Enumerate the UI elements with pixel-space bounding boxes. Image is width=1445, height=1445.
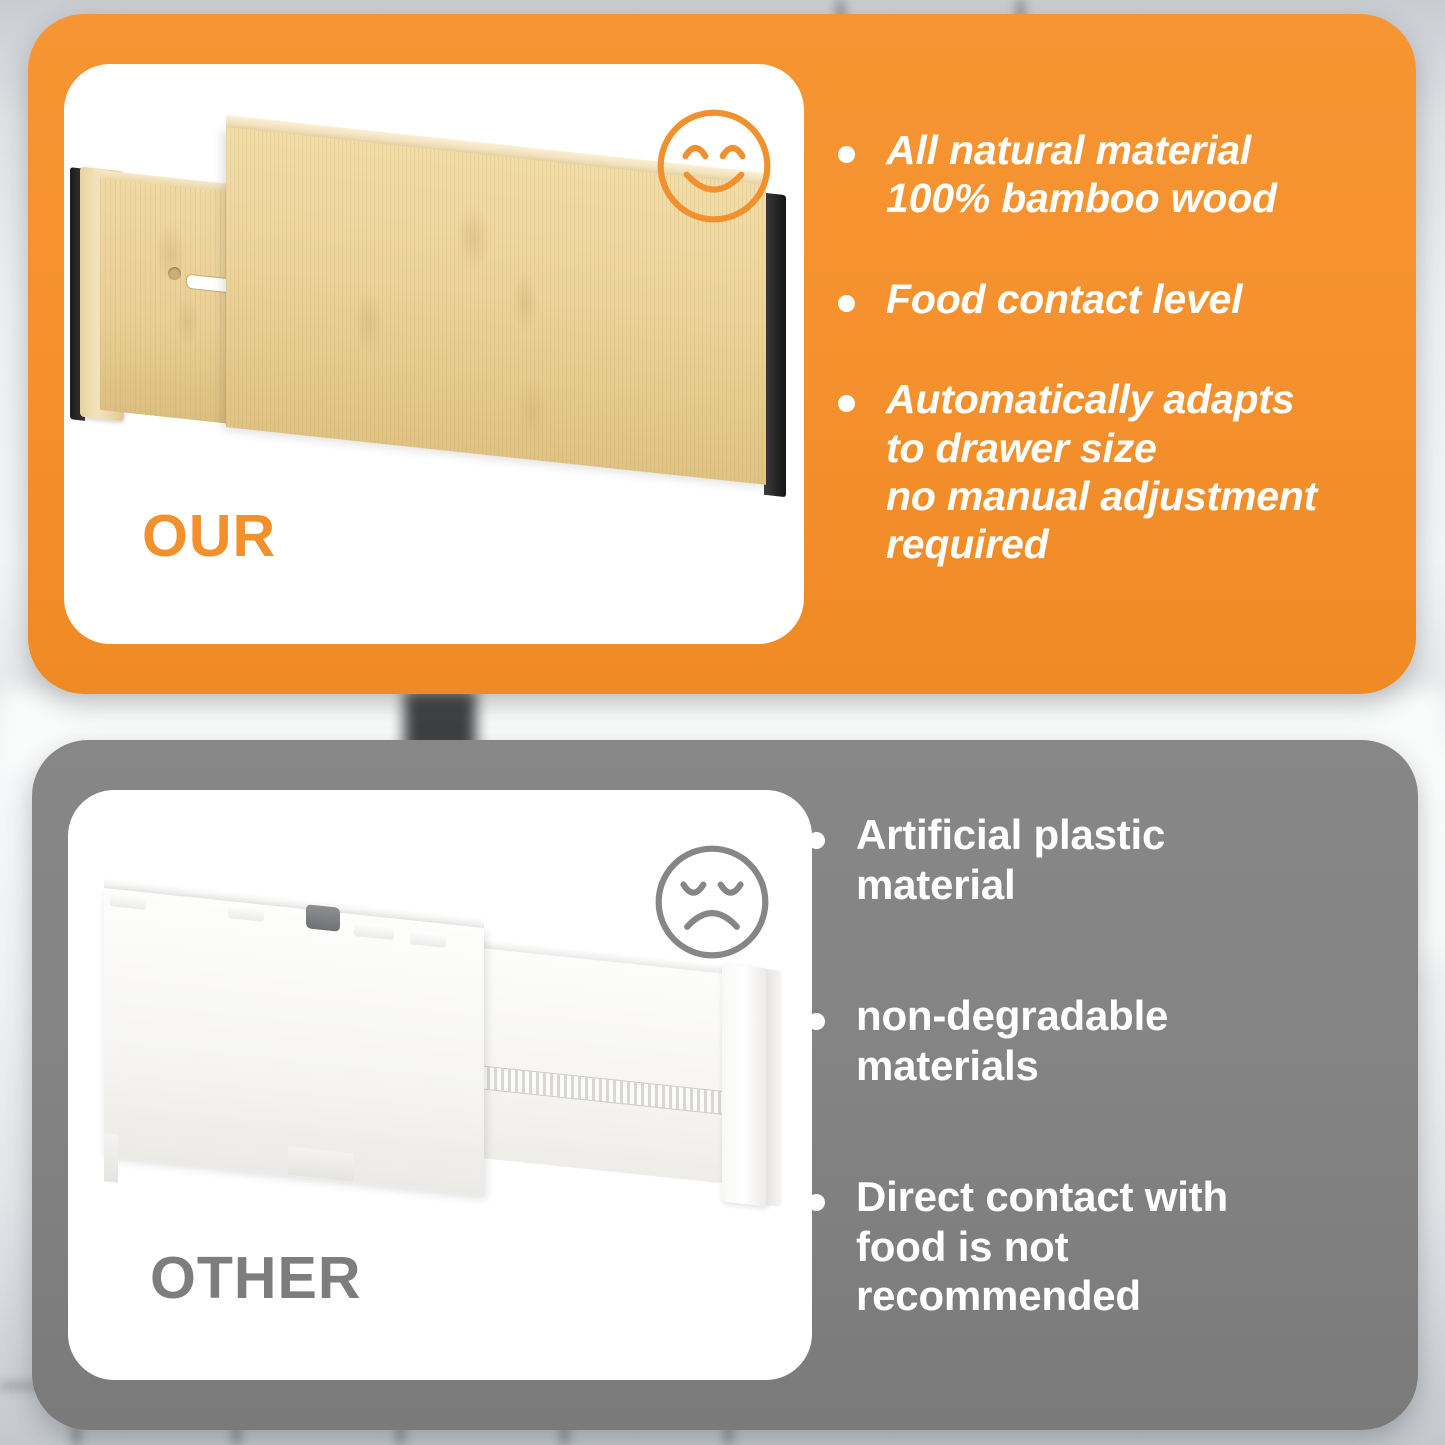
list-item: non-degradable materials	[808, 991, 1408, 1090]
ours-photo-card: OUR	[64, 64, 804, 644]
other-bullet-text: Artificial plastic material	[856, 810, 1165, 909]
bamboo-knot	[456, 202, 490, 274]
bamboo-knot	[174, 294, 200, 349]
other-bullet-text: non-degradable materials	[856, 991, 1168, 1090]
bamboo-knot	[512, 270, 538, 335]
ours-label: OUR	[142, 507, 276, 566]
ours-bullet-text: Automatically adapts to drawer size no m…	[886, 375, 1317, 569]
list-item: Direct contact with food is not recommen…	[808, 1172, 1408, 1321]
list-item: All natural material 100% bamboo wood	[838, 126, 1418, 223]
plastic-foot	[104, 1133, 118, 1182]
bullet-dot-icon	[808, 1194, 825, 1211]
other-photo-card: OTHER	[68, 790, 812, 1380]
other-panel: OTHER Artificial plastic material non-de…	[32, 740, 1418, 1430]
list-item: Automatically adapts to drawer size no m…	[838, 375, 1418, 569]
bamboo-knot	[518, 376, 546, 445]
bullet-dot-icon	[838, 295, 855, 312]
ours-panel: OUR All natural material 100% bamboo woo…	[28, 14, 1416, 694]
other-bullet-text: Direct contact with food is not recommen…	[856, 1172, 1228, 1321]
bullet-dot-icon	[838, 146, 855, 163]
ours-bullet-text: All natural material 100% bamboo wood	[886, 126, 1277, 223]
plastic-endcap-secondary	[766, 969, 782, 1207]
other-label: OTHER	[150, 1249, 362, 1308]
comparison-infographic: OUR All natural material 100% bamboo woo…	[0, 0, 1445, 1445]
bamboo-screw-hole	[168, 267, 181, 280]
bamboo-front-endcap-rubber	[764, 193, 786, 497]
list-item: Food contact level	[838, 275, 1418, 323]
plastic-release-button	[306, 904, 340, 932]
bamboo-knot	[354, 289, 384, 356]
list-item: Artificial plastic material	[808, 810, 1408, 909]
bullet-dot-icon	[808, 1013, 825, 1030]
smiley-sad-icon	[650, 840, 774, 964]
bullet-dot-icon	[838, 395, 855, 412]
bullet-dot-icon	[808, 832, 825, 849]
plastic-endcap	[722, 964, 768, 1207]
ours-bullet-text: Food contact level	[886, 275, 1242, 323]
other-bullet-list: Artificial plastic material non-degradab…	[808, 810, 1408, 1403]
plastic-rail	[466, 946, 762, 1187]
ours-bullet-list: All natural material 100% bamboo wood Fo…	[838, 126, 1418, 621]
smiley-happy-icon	[652, 104, 776, 228]
